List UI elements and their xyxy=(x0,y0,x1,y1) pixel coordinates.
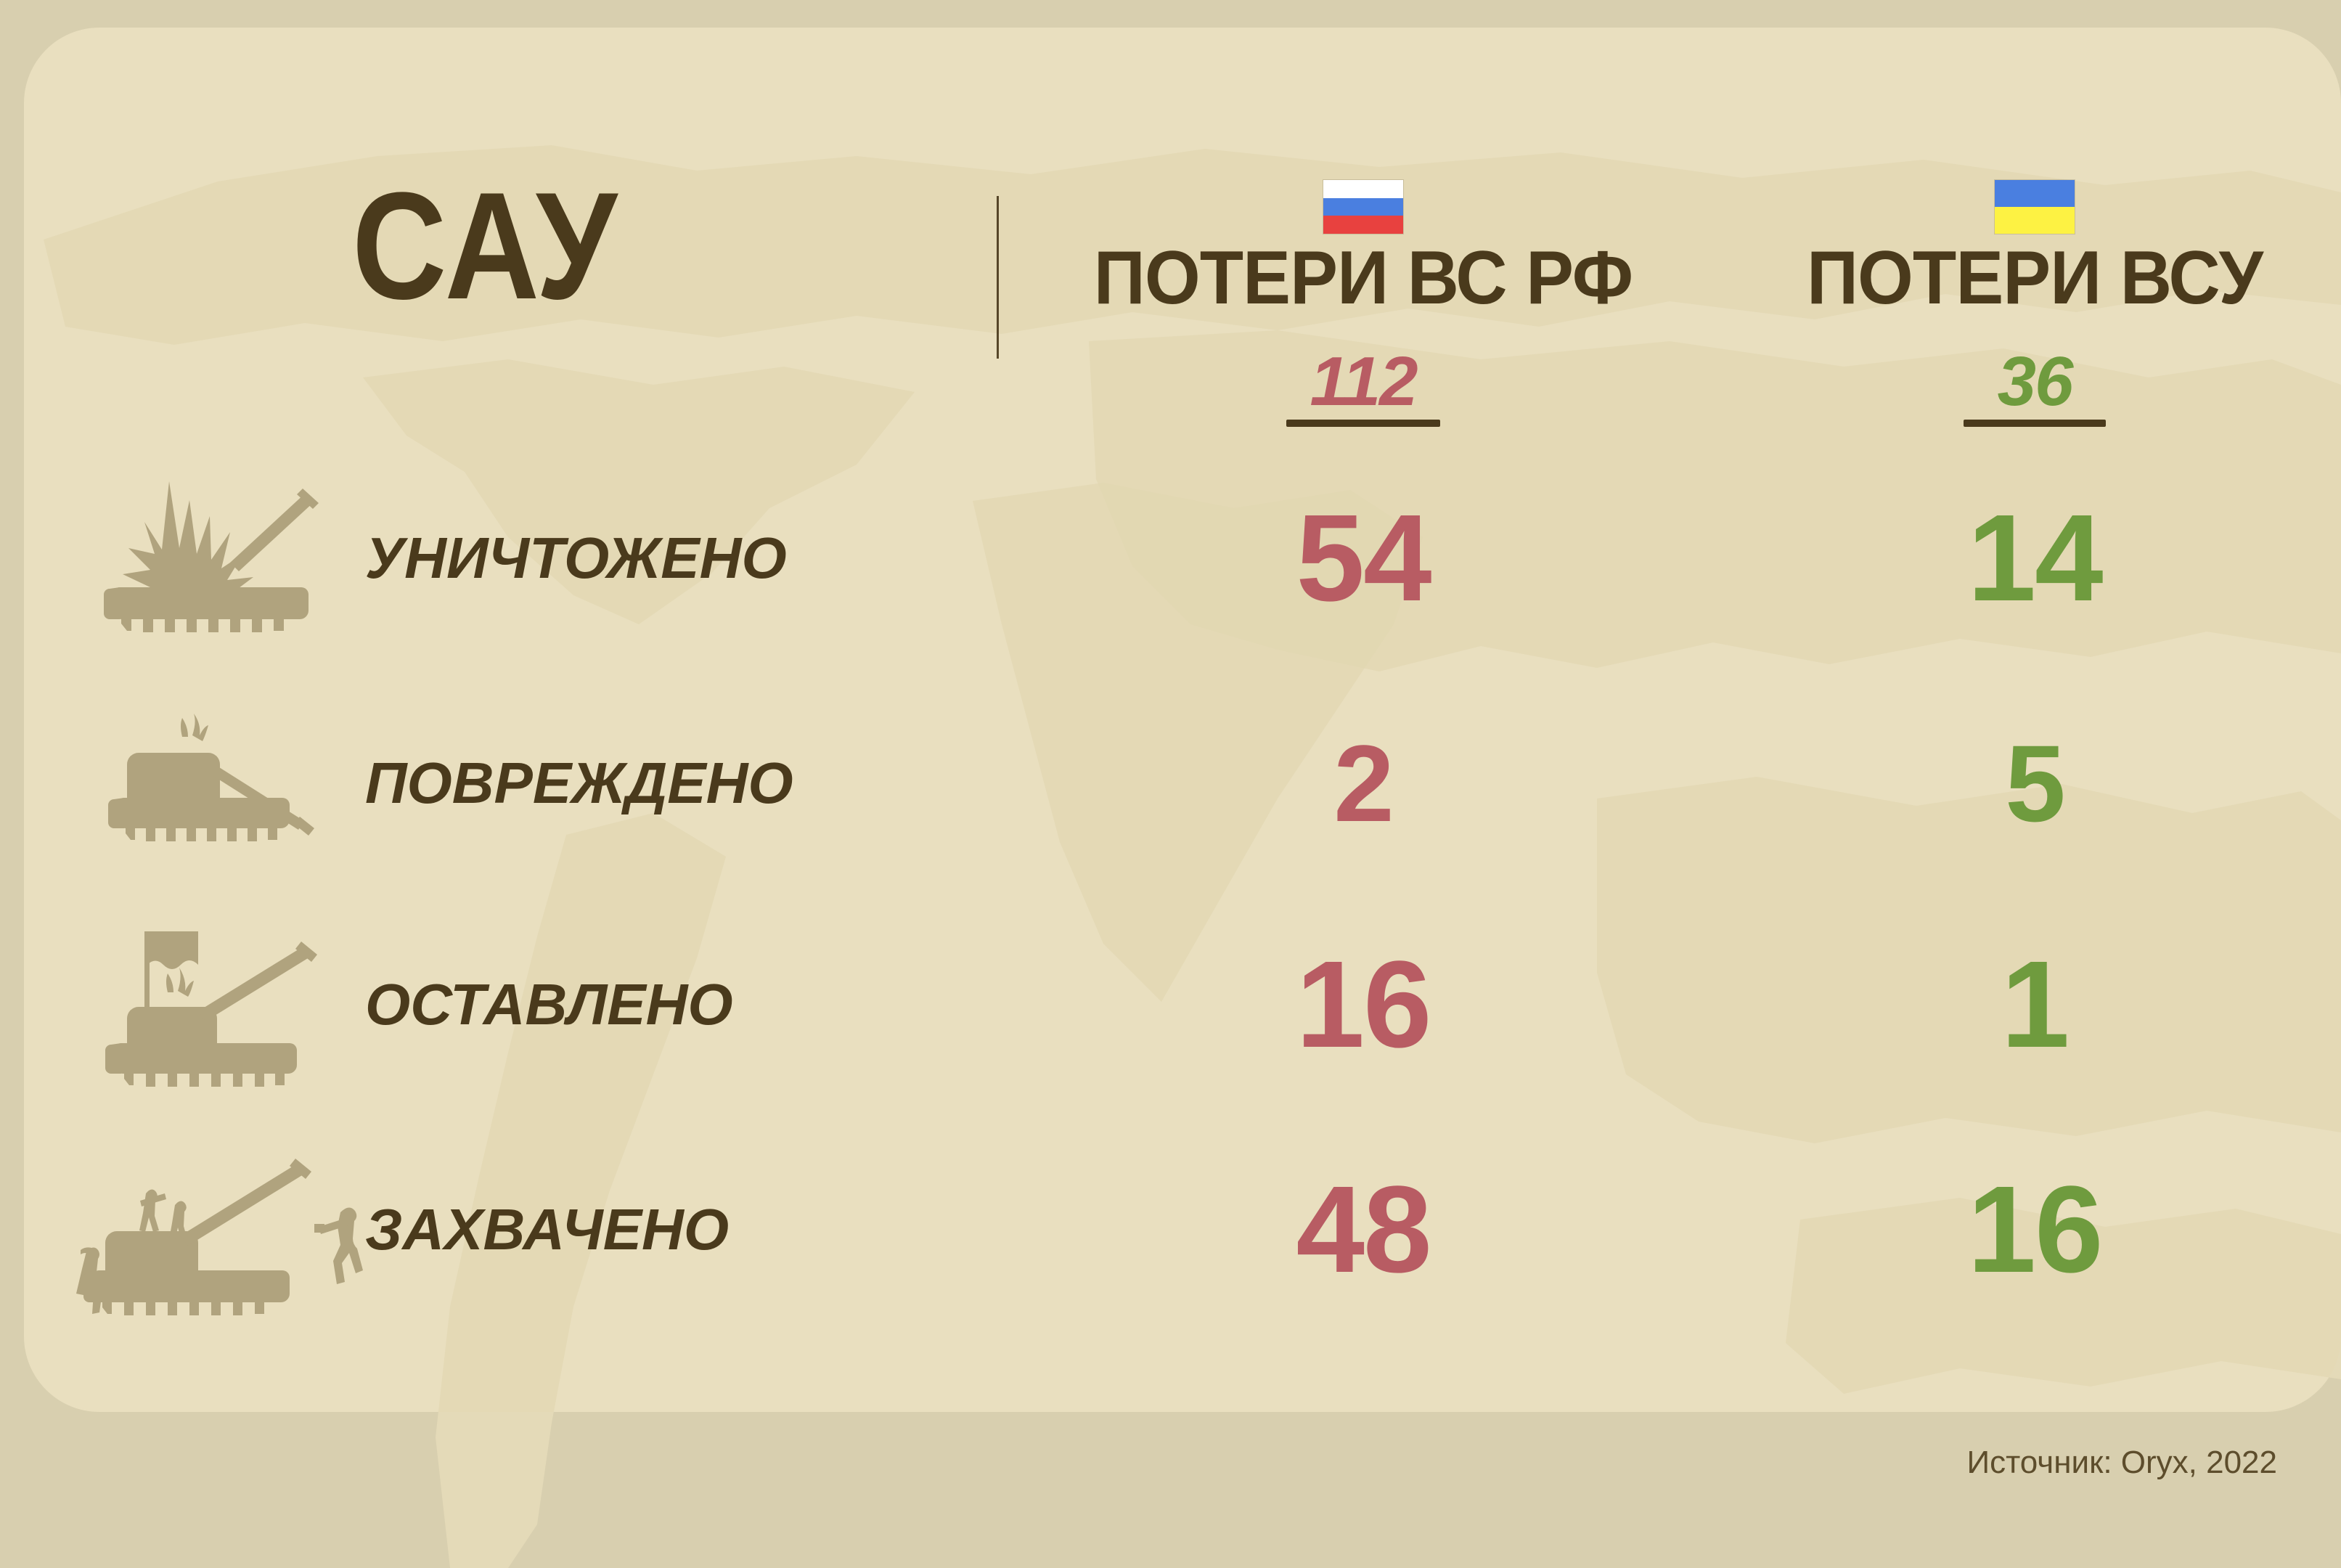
row-value-ukraine: 16 xyxy=(1730,1168,2340,1291)
damaged-spg-icon xyxy=(97,711,322,856)
row-value-russia: 16 xyxy=(997,943,1730,1066)
total-underline-ukraine xyxy=(1964,420,2106,427)
row-value-russia: 48 xyxy=(997,1168,1730,1291)
row-value-russia: 54 xyxy=(997,497,1730,620)
row-label: ОСТАВЛЕНО xyxy=(365,971,733,1038)
content-panel: САУ ПОТЕРИ ВС РФ ПОТЕРИ ВСУ 112 xyxy=(24,28,2341,1412)
table-row: ПОВРЕЖДЕНО 2 5 xyxy=(24,783,2341,783)
row-label: УНИЧТОЖЕНО xyxy=(365,525,787,592)
captured-spg-icon xyxy=(68,1143,372,1317)
table-row: ОСТАВЛЕНО 16 1 xyxy=(24,1004,2341,1005)
destroyed-spg-icon xyxy=(88,478,335,638)
row-label: ЗАХВАЧЕНО xyxy=(365,1196,729,1263)
russia-flag-icon xyxy=(1323,180,1403,234)
row-value-russia: 2 xyxy=(997,729,1730,838)
column-header-label-ukraine: ПОТЕРИ ВСУ xyxy=(1745,240,2324,317)
infographic-canvas: САУ ПОТЕРИ ВС РФ ПОТЕРИ ВСУ 112 xyxy=(0,0,2341,1568)
ukraine-flag-icon xyxy=(1995,180,2075,234)
total-russia: 112 xyxy=(997,347,1730,427)
column-header-russia: ПОТЕРИ ВС РФ xyxy=(997,180,1730,317)
total-value-ukraine: 36 xyxy=(1998,347,2072,417)
total-value-russia: 112 xyxy=(1310,347,1416,417)
column-header-ukraine: ПОТЕРИ ВСУ xyxy=(1730,180,2340,317)
page-title: САУ xyxy=(352,170,618,322)
table-row: УНИЧТОЖЕНО 54 14 xyxy=(24,558,2341,558)
total-underline-russia xyxy=(1286,420,1440,427)
row-value-ukraine: 1 xyxy=(1730,943,2340,1066)
row-value-ukraine: 14 xyxy=(1730,497,2340,620)
row-label: ПОВРЕЖДЕНО xyxy=(365,750,793,817)
total-ukraine: 36 xyxy=(1730,347,2340,427)
table-row: ЗАХВАЧЕНО 48 16 xyxy=(24,1229,2341,1230)
abandoned-spg-icon xyxy=(94,921,340,1088)
column-header-label-russia: ПОТЕРИ ВС РФ xyxy=(1015,240,1712,317)
row-value-ukraine: 5 xyxy=(1730,729,2340,838)
source-credit: Источник: Oryx, 2022 xyxy=(1967,1445,2278,1481)
